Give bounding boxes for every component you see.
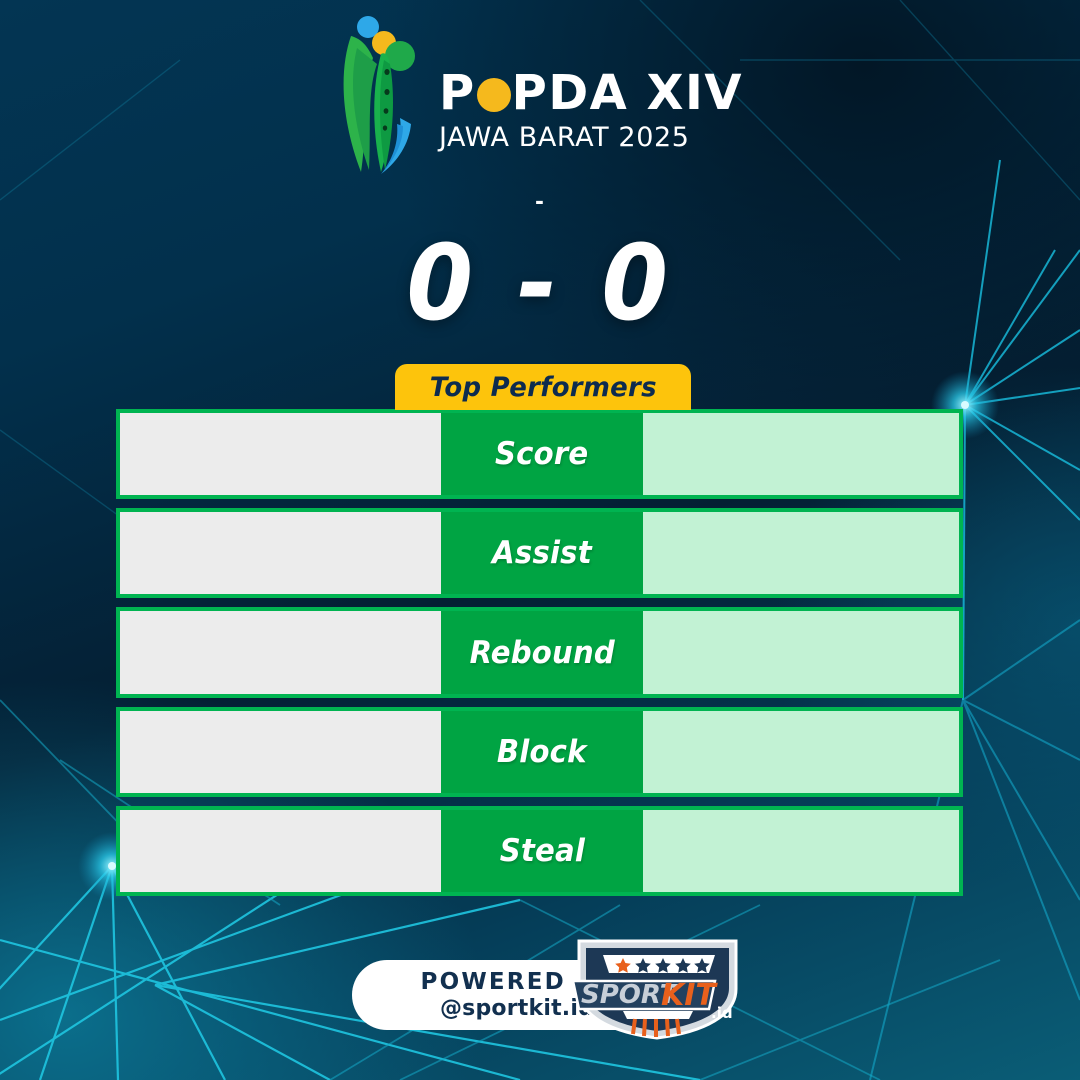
brand-word-kit: KIT — [661, 978, 718, 1013]
top-performers-banner: Top Performers — [395, 364, 691, 410]
sportkit-shield-logo[interactable]: SPORT KIT .id — [565, 933, 750, 1041]
logo-subtitle: JAWA BARAT 2025 — [439, 124, 743, 151]
player-name-cell[interactable] — [120, 413, 441, 495]
top-performers-table: Score Assist Rebound Block — [116, 409, 963, 896]
top-performers-label: Top Performers — [429, 372, 656, 403]
logo-o-ball — [477, 78, 511, 112]
table-row[interactable]: Score — [116, 409, 963, 499]
table-row[interactable]: Rebound — [116, 607, 963, 697]
stat-label-cell: Rebound — [441, 611, 643, 693]
player-name-cell[interactable] — [120, 512, 441, 594]
stat-value-cell[interactable] — [643, 711, 959, 793]
table-row[interactable]: Assist — [116, 508, 963, 598]
stat-label-cell: Score — [441, 413, 643, 495]
stat-label: Block — [497, 734, 587, 770]
stat-label: Steal — [499, 833, 584, 869]
stat-label-cell: Steal — [441, 810, 643, 892]
player-name-cell[interactable] — [120, 611, 441, 693]
stat-value-cell[interactable] — [643, 810, 959, 892]
logo-title: PPDA XIV — [439, 69, 743, 117]
stat-label-cell: Block — [441, 711, 643, 793]
stat-value-cell[interactable] — [643, 611, 959, 693]
match-label: - — [0, 190, 1080, 210]
brand-suffix-id: .id — [711, 1004, 733, 1022]
stat-value-cell[interactable] — [643, 512, 959, 594]
stat-label: Rebound — [469, 635, 614, 671]
scoreboard-graphic: PPDA XIV JAWA BARAT 2025 - 0 - 0 Top Per… — [0, 0, 1080, 1080]
table-row[interactable]: Block — [116, 707, 963, 797]
score-line: 0 - 0 — [43, 222, 1037, 344]
player-name-cell[interactable] — [120, 711, 441, 793]
stat-label: Assist — [492, 535, 592, 571]
player-name-cell[interactable] — [120, 810, 441, 892]
table-row[interactable]: Steal — [116, 806, 963, 896]
popda-leaf-figure-logo — [337, 14, 429, 178]
stat-value-cell[interactable] — [643, 413, 959, 495]
stat-label: Score — [495, 436, 588, 472]
event-logo: PPDA XIV JAWA BARAT 2025 — [0, 14, 1080, 178]
stat-label-cell: Assist — [441, 512, 643, 594]
